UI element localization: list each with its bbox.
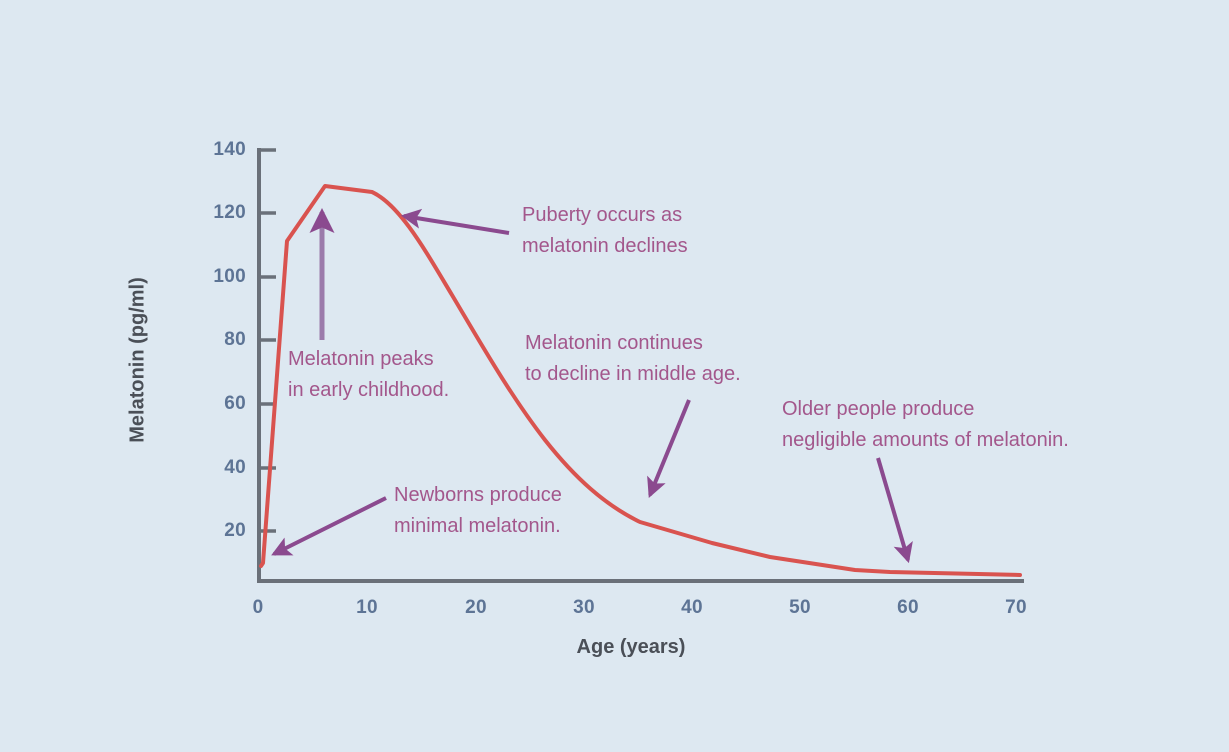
arrow-puberty <box>404 216 509 233</box>
x-tick-label-0: 0 <box>253 597 264 619</box>
y-tick-label-60: 60 <box>198 393 246 415</box>
annotation-newborns: Newborns produce minimal melatonin. <box>394 480 562 542</box>
x-tick-label-60: 60 <box>897 597 919 619</box>
x-tick-label-50: 50 <box>789 597 811 619</box>
annotation-middle-age-decline: Melatonin continues to decline in middle… <box>525 328 741 390</box>
annotation-puberty: Puberty occurs as melatonin declines <box>522 200 688 262</box>
x-tick-label-20: 20 <box>465 597 487 619</box>
y-tick-label-140: 140 <box>198 139 246 161</box>
y-axis-ticks <box>259 150 276 531</box>
arrow-newborn <box>274 498 386 554</box>
annotation-older-people: Older people produce negligible amounts … <box>782 394 1069 456</box>
x-tick-label-70: 70 <box>1005 597 1027 619</box>
arrow-middle <box>650 400 689 495</box>
x-tick-label-10: 10 <box>356 597 378 619</box>
annotation-melatonin-peaks: Melatonin peaks in early childhood. <box>288 344 449 406</box>
y-tick-label-20: 20 <box>198 520 246 542</box>
x-tick-label-30: 30 <box>573 597 595 619</box>
y-tick-label-100: 100 <box>198 266 246 288</box>
x-tick-label-40: 40 <box>681 597 703 619</box>
y-tick-label-40: 40 <box>198 457 246 479</box>
arrow-older <box>878 458 908 560</box>
y-tick-label-120: 120 <box>198 202 246 224</box>
chart-canvas: 140 120 100 80 60 40 20 0 10 20 30 40 50… <box>0 0 1229 752</box>
y-tick-label-80: 80 <box>198 329 246 351</box>
x-axis-title: Age (years) <box>577 636 686 659</box>
y-axis-title: Melatonin (pg/ml) <box>127 277 150 443</box>
